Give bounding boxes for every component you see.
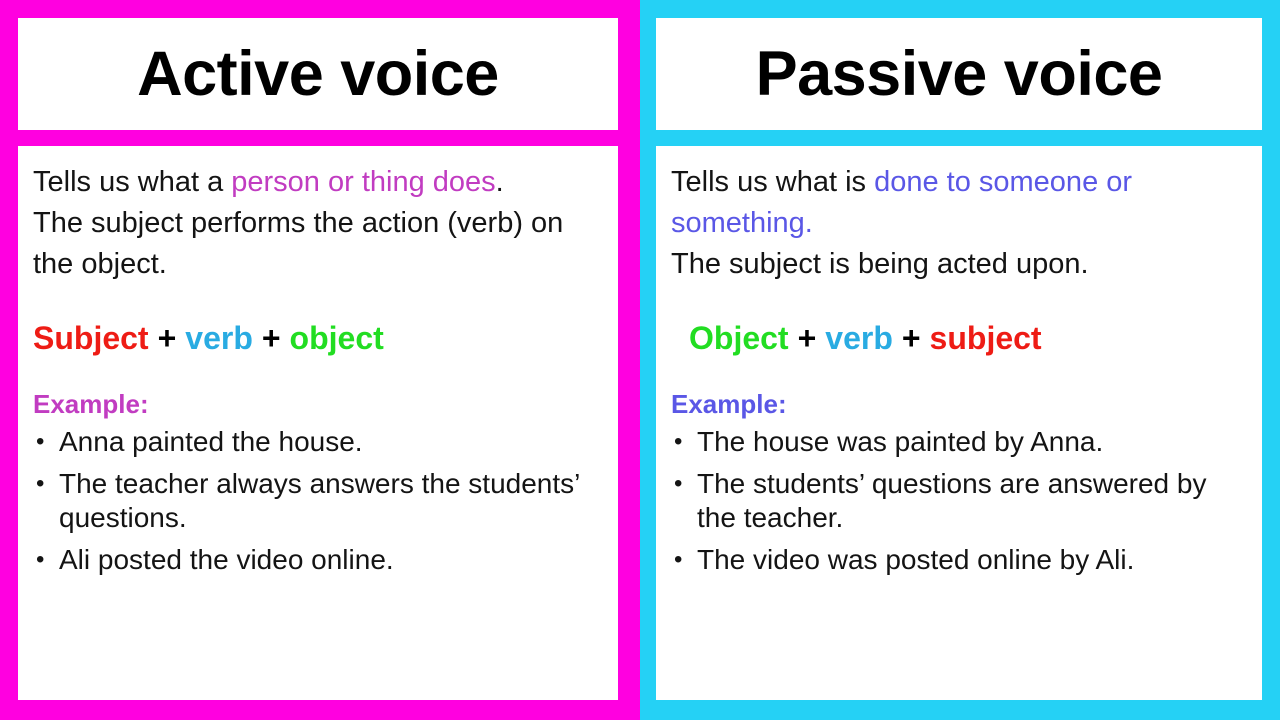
formula-term-subject: subject <box>930 320 1042 356</box>
bullet-icon: • <box>674 467 682 501</box>
formula-term-object: object <box>290 320 384 356</box>
passive-definition-line1-plain: Tells us what is <box>671 166 874 198</box>
list-item: • Anna painted the house. <box>33 425 604 459</box>
formula-operator-1: + <box>149 320 186 356</box>
formula-term-verb: verb <box>825 320 893 356</box>
active-voice-formula: Subject+verb+object <box>33 321 604 356</box>
list-item-text: The teacher always answers the students’… <box>59 468 579 533</box>
active-definition-highlight: person or thing does <box>231 166 495 198</box>
active-voice-panel: Active voice Tells us what a person or t… <box>0 0 640 720</box>
list-item-text: The video was posted online by Ali. <box>697 544 1134 575</box>
bullet-icon: • <box>674 425 682 459</box>
active-voice-title-card: Active voice <box>18 18 618 130</box>
list-item: • The students’ questions are answered b… <box>671 467 1248 535</box>
list-item-text: Ali posted the video online. <box>59 544 394 575</box>
active-example-label: Example: <box>33 390 604 419</box>
formula-operator-1: + <box>789 320 826 356</box>
passive-voice-body-card: Tells us what is done to someone or some… <box>656 146 1262 700</box>
list-item-text: The house was painted by Anna. <box>697 426 1103 457</box>
active-voice-definition: Tells us what a person or thing does. <box>33 162 604 203</box>
formula-operator-2: + <box>253 320 290 356</box>
list-item-text: The students’ questions are answered by … <box>697 468 1206 533</box>
active-definition-line2: The subject performs the action (verb) o… <box>33 203 604 285</box>
passive-voice-title-card: Passive voice <box>656 18 1262 130</box>
bullet-icon: • <box>674 543 682 577</box>
passive-definition-line2: The subject is being acted upon. <box>671 244 1248 285</box>
active-definition-line1-plain: Tells us what a <box>33 166 231 198</box>
bullet-icon: • <box>36 425 44 459</box>
list-item: • The teacher always answers the student… <box>33 467 604 535</box>
list-item: • The video was posted online by Ali. <box>671 543 1248 577</box>
active-voice-title: Active voice <box>137 43 499 106</box>
passive-voice-panel: Passive voice Tells us what is done to s… <box>640 0 1280 720</box>
list-item-text: Anna painted the house. <box>59 426 363 457</box>
formula-term-object: Object <box>689 320 789 356</box>
passive-voice-formula: Object+verb+subject <box>671 321 1248 356</box>
formula-term-verb: verb <box>185 320 253 356</box>
list-item: • The house was painted by Anna. <box>671 425 1248 459</box>
active-definition-line1-tail: . <box>496 166 504 198</box>
bullet-icon: • <box>36 543 44 577</box>
formula-operator-2: + <box>893 320 930 356</box>
passive-voice-definition: Tells us what is done to someone or some… <box>671 162 1248 244</box>
bullet-icon: • <box>36 467 44 501</box>
passive-voice-title: Passive voice <box>756 43 1163 106</box>
passive-example-label: Example: <box>671 390 1248 419</box>
formula-term-subject: Subject <box>33 320 149 356</box>
passive-example-list: • The house was painted by Anna. • The s… <box>671 425 1248 577</box>
active-voice-body-card: Tells us what a person or thing does. Th… <box>18 146 618 700</box>
voice-comparison-infographic: Active voice Tells us what a person or t… <box>0 0 1280 720</box>
active-example-list: • Anna painted the house. • The teacher … <box>33 425 604 577</box>
list-item: • Ali posted the video online. <box>33 543 604 577</box>
